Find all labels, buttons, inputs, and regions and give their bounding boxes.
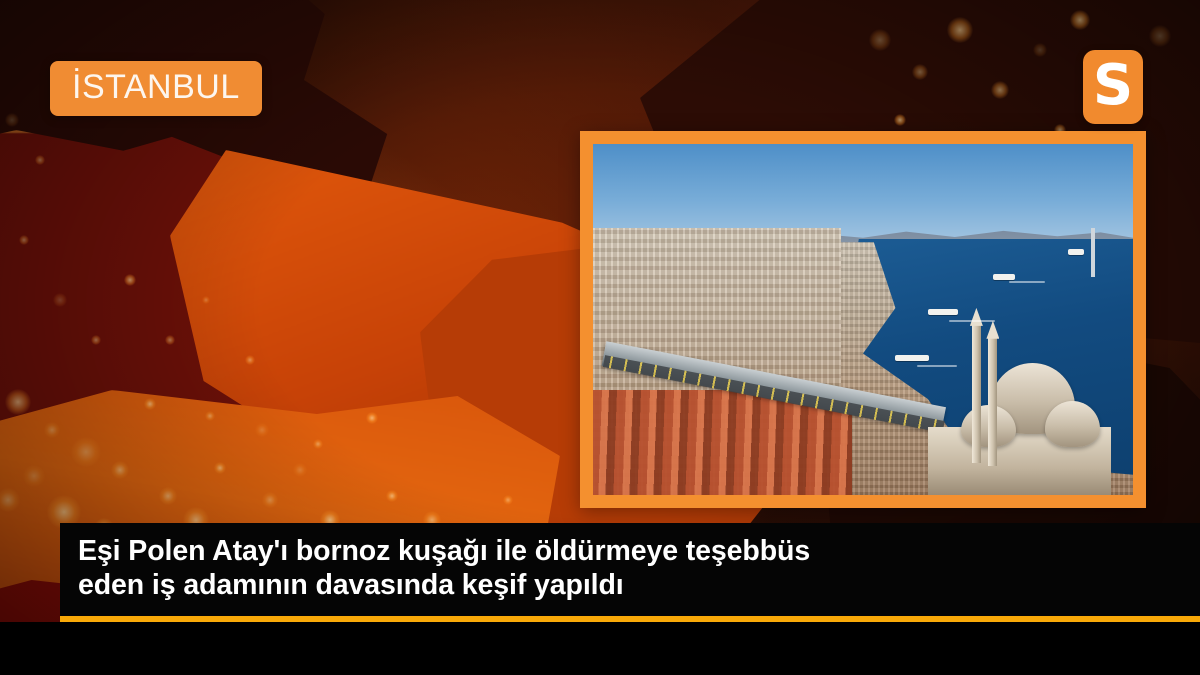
photo-ferry-wake-2 bbox=[1009, 281, 1045, 283]
photo-ferry-3 bbox=[1068, 249, 1084, 255]
photo-card-frame bbox=[580, 131, 1146, 508]
location-badge: İSTANBUL bbox=[50, 61, 262, 116]
photo-ferry-wake-1 bbox=[949, 320, 995, 322]
brand-s-logo: S bbox=[1083, 50, 1143, 124]
bottom-black-bar bbox=[0, 622, 1200, 675]
caption-line-2: eden iş adamının davasında keşif yapıldı bbox=[78, 569, 624, 601]
photo-ferry-1 bbox=[928, 309, 958, 315]
photo-antenna-tower bbox=[1091, 228, 1095, 277]
caption-headline: Eşi Polen Atay'ı bornoz kuşağı ile öldür… bbox=[78, 534, 1182, 602]
photo-ferry-2 bbox=[993, 274, 1015, 280]
photo-mosque-minaret-right bbox=[988, 337, 997, 466]
photo-mosque-minaret-left bbox=[972, 324, 981, 463]
photo-mosque-semi-dome-right bbox=[1045, 401, 1100, 446]
caption-bar: Eşi Polen Atay'ı bornoz kuşağı ile öldür… bbox=[60, 523, 1200, 618]
caption-line-1: Eşi Polen Atay'ı bornoz kuşağı ile öldür… bbox=[78, 535, 810, 567]
photo-new-mosque bbox=[928, 334, 1112, 495]
photo-ferry-wake-4 bbox=[917, 365, 957, 367]
photo-image bbox=[593, 144, 1133, 495]
brand-logo-letter: S bbox=[1093, 58, 1133, 114]
photo-ferry-4 bbox=[895, 355, 929, 361]
news-card-stage: İSTANBUL bbox=[0, 0, 1200, 675]
